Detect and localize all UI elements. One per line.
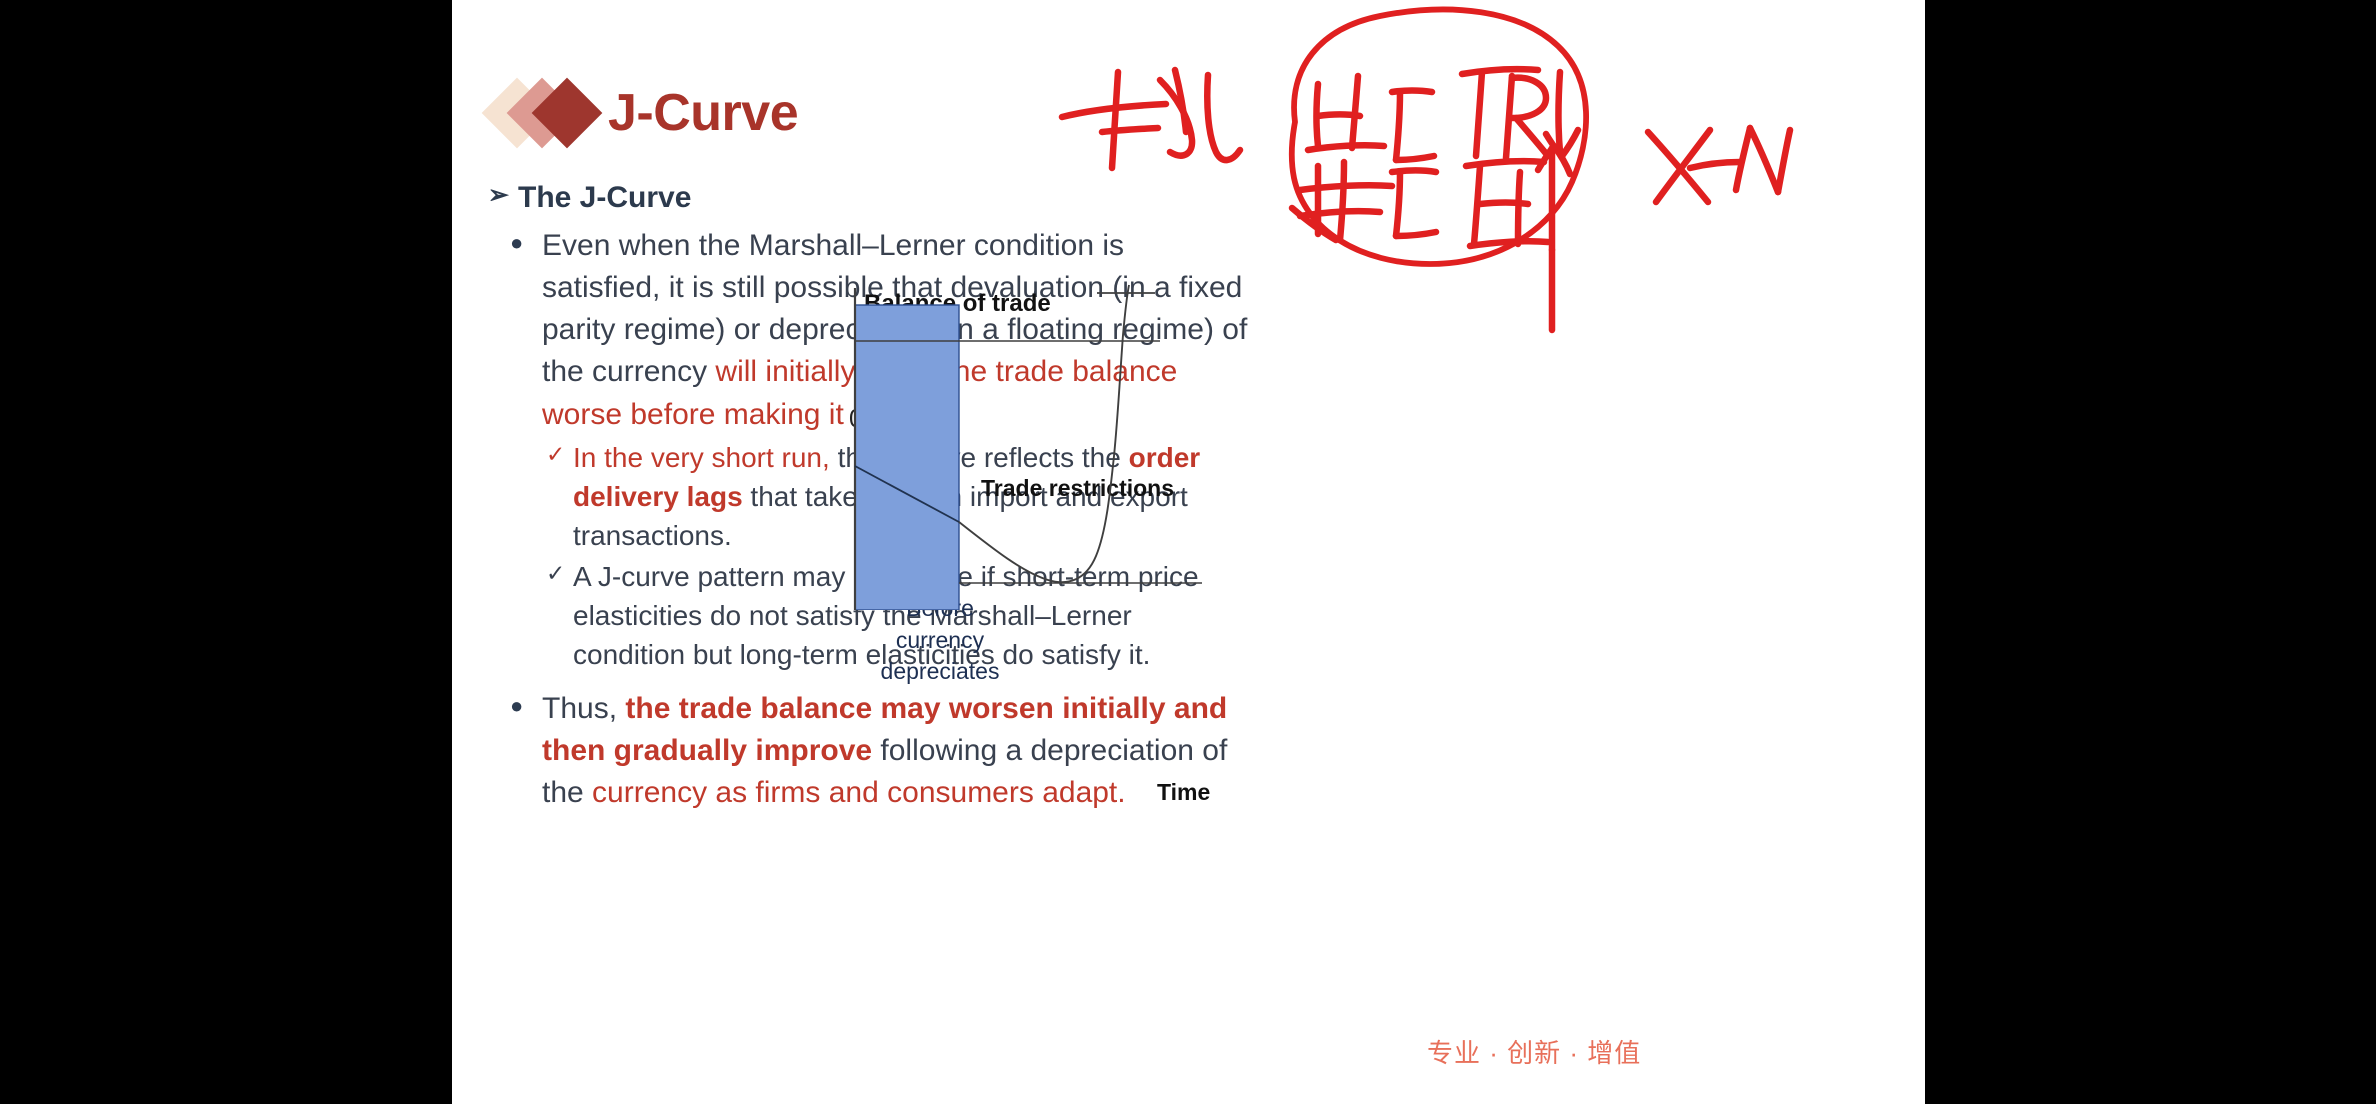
- check-bullet-icon: ✓: [546, 438, 573, 471]
- chart-x-axis-label: Time: [1157, 779, 1210, 806]
- arrow-bullet-icon: ➢: [488, 178, 518, 214]
- j-curve-chart: [852, 280, 1372, 610]
- round-bullet-icon: ●: [510, 688, 542, 723]
- chart-j-curve-line: [959, 285, 1129, 582]
- bullet-item-2-text: Thus, the trade balance may worsen initi…: [542, 688, 1248, 814]
- bullet-item-2: ● Thus, the trade balance may worsen ini…: [510, 688, 1248, 814]
- slide-title: J-Curve: [492, 72, 798, 154]
- presentation-slide: J-Curve ➢ The J-Curve ● Even when the Ma…: [452, 0, 1925, 1104]
- bullet2-black-lead: Thus,: [542, 692, 625, 725]
- screenshot-root: J-Curve ➢ The J-Curve ● Even when the Ma…: [0, 0, 2376, 1104]
- round-bullet-icon: ●: [510, 225, 542, 260]
- brand-watermark: 专业 · 创新 · 增值: [1427, 1033, 1641, 1070]
- outline-heading: ➢ The J-Curve: [488, 178, 1248, 217]
- outline-heading-label: The J-Curve: [518, 178, 1248, 217]
- diamond-decoration-icon: [492, 74, 604, 152]
- page-title: J-Curve: [608, 83, 798, 143]
- chart-shaded-region: [855, 305, 959, 610]
- sub1-red-lead: In the very short run,: [573, 442, 838, 473]
- bullet2-red-tail: currency as firms and consumers adapt.: [592, 776, 1126, 809]
- check-bullet-icon: ✓: [546, 557, 573, 590]
